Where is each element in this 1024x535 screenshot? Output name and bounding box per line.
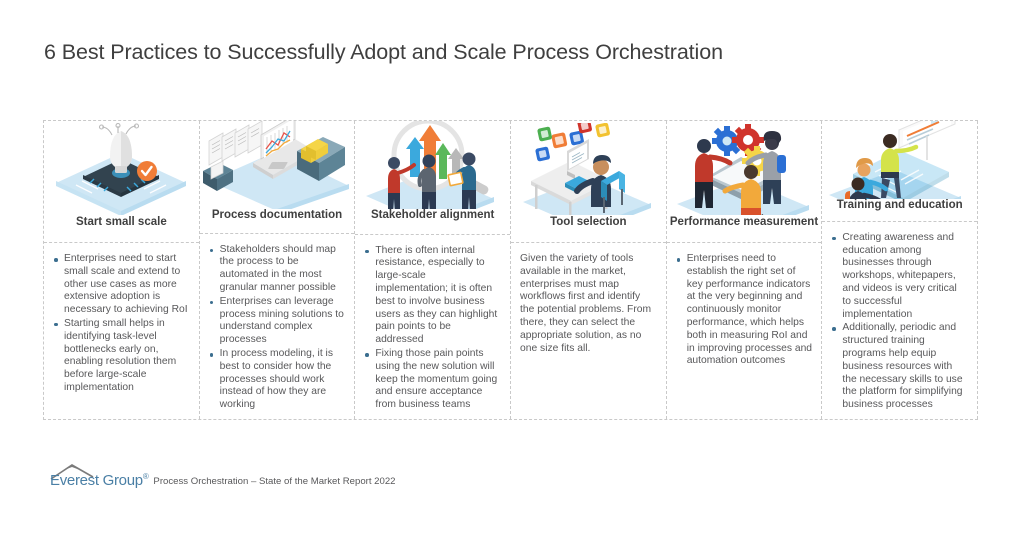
- list-item: There is often internal resistance, espe…: [363, 245, 501, 347]
- practice-body: Stakeholders should map the process to b…: [200, 234, 355, 419]
- magnifier-growth-arrows-people-icon: [358, 121, 508, 209]
- registered-mark: ®: [143, 472, 149, 481]
- practice-bullet-list: Stakeholders should map the process to b…: [208, 244, 346, 412]
- practice-heading-label: Performance measurement: [670, 216, 818, 229]
- illustration-cell: [511, 121, 666, 216]
- everest-group-logo: Everest Group®: [50, 464, 148, 488]
- practice-heading: Performance measurement: [667, 216, 822, 243]
- practice-column-start-small-scale: Start small scale Enterprises need to st…: [44, 121, 200, 419]
- practice-body: Enterprises need to establish the right …: [667, 243, 822, 419]
- list-item: In process modeling, it is best to consi…: [208, 348, 346, 412]
- practice-heading-label: Start small scale: [76, 216, 167, 229]
- practice-body: There is often internal resistance, espe…: [355, 235, 510, 419]
- practice-paragraph: Given the variety of tools available in …: [519, 253, 657, 355]
- practice-heading-label: Tool selection: [550, 216, 626, 229]
- illustration-cell: [667, 121, 822, 216]
- practice-column-tool-selection: Tool selection Given the variety of tool…: [511, 121, 667, 419]
- practice-bullet-list: Enterprises need to establish the right …: [675, 253, 813, 368]
- logo-text: Everest Group®: [50, 473, 148, 488]
- practice-heading: Stakeholder alignment: [355, 209, 510, 234]
- list-item: Enterprises need to start small scale an…: [52, 253, 190, 317]
- list-item: Additionally, periodic and structured tr…: [830, 322, 968, 412]
- team-gears-table-icon: [667, 123, 821, 215]
- practice-column-stakeholder-alignment: Stakeholder alignment There is often int…: [355, 121, 511, 419]
- laptop-documents-folders-icon: [201, 121, 353, 209]
- practice-heading-label: Process documentation: [212, 209, 342, 222]
- footer: Everest Group® Process Orchestration – S…: [50, 464, 396, 488]
- list-item: Stakeholders should map the process to b…: [208, 244, 346, 295]
- practice-column-performance-measurement: Performance measurement Enterprises need…: [667, 121, 823, 419]
- practice-heading: Tool selection: [511, 216, 666, 243]
- page-title: 6 Best Practices to Successfully Adopt a…: [44, 40, 723, 65]
- practice-heading-label: Training and education: [837, 199, 963, 212]
- list-item: Fixing those pain points using the new s…: [363, 348, 501, 412]
- practice-bullet-list: Enterprises need to start small scale an…: [52, 253, 190, 395]
- training-whiteboard-presenter-icon: [823, 121, 977, 199]
- person-desk-app-icons-icon: [513, 123, 663, 215]
- practice-column-training-and-education: Training and education Creating awarenes…: [822, 121, 978, 419]
- illustration-cell: [44, 121, 199, 216]
- list-item: Starting small helps in identifying task…: [52, 318, 190, 395]
- practice-bullet-list: There is often internal resistance, espe…: [363, 245, 501, 412]
- illustration-cell: [200, 121, 355, 209]
- logo-name: Everest Group: [50, 472, 143, 489]
- practice-heading: Process documentation: [200, 209, 355, 234]
- list-item: Enterprises can leverage process mining …: [208, 296, 346, 347]
- practice-body: Given the variety of tools available in …: [511, 243, 666, 419]
- lightbulb-chip-checkmark-icon: [46, 123, 196, 215]
- illustration-cell: [355, 121, 510, 209]
- practice-body: Creating awareness and education among b…: [822, 222, 977, 419]
- illustration-cell: [822, 121, 977, 199]
- footer-note: Process Orchestration – State of the Mar…: [153, 476, 395, 488]
- list-item: Creating awareness and education among b…: [830, 232, 968, 322]
- practice-heading: Training and education: [822, 199, 977, 221]
- practice-heading: Start small scale: [44, 216, 199, 243]
- list-item: Enterprises need to establish the right …: [675, 253, 813, 368]
- best-practices-grid: Start small scale Enterprises need to st…: [43, 120, 978, 420]
- practice-bullet-list: Creating awareness and education among b…: [830, 232, 968, 412]
- practice-heading-label: Stakeholder alignment: [371, 209, 494, 222]
- practice-body: Enterprises need to start small scale an…: [44, 243, 199, 419]
- practice-column-process-documentation: Process documentation Stakeholders shoul…: [200, 121, 356, 419]
